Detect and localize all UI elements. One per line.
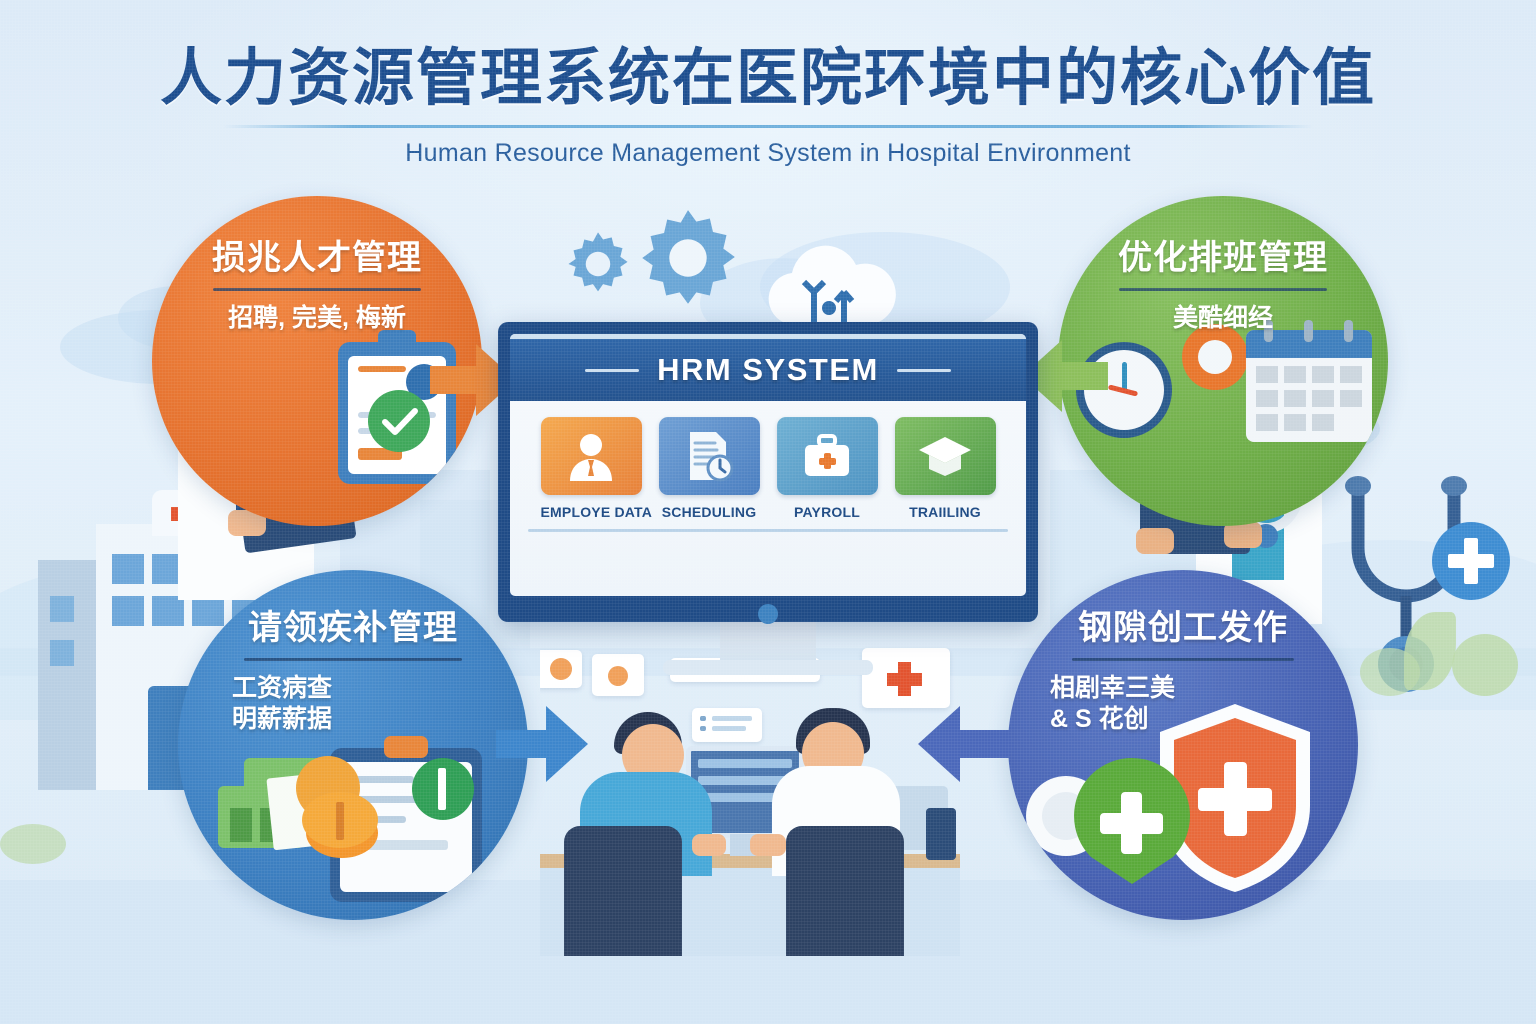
hrm-header-bar: HRM SYSTEM — [510, 334, 1026, 401]
monitor-power-dot — [758, 604, 778, 624]
tablet-device — [926, 808, 956, 860]
note-card — [592, 654, 644, 696]
page-title: 人力资源管理系统在医院环境中的核心价值 — [0, 46, 1536, 111]
page-title-block: 人力资源管理系统在医院环境中的核心价值 Human Resource Manag… — [0, 46, 1536, 168]
header-dash-left — [585, 369, 639, 372]
tile-employee-data[interactable]: EMPLOYE DATA — [541, 417, 642, 520]
arrow-bottom-right-to-center — [918, 706, 1010, 787]
tile-payroll-label: PAYROLL — [777, 504, 878, 520]
quadrant-bottom-left-subtitle: 工资病查 明薪薪据 — [178, 673, 528, 736]
monitor-neck — [720, 622, 816, 662]
quadrant-bottom-left[interactable]: 请领疾补管理 工资病查 明薪薪据 — [178, 570, 528, 920]
screen-divider — [528, 529, 1008, 532]
tile-training-label: TRAIILING — [895, 504, 996, 520]
wall-list-card — [692, 708, 762, 742]
title-divider — [223, 125, 1313, 128]
tile-training[interactable]: TRAIILING — [895, 417, 996, 520]
speech-bubble-card — [540, 650, 582, 688]
document-clock-icon — [659, 417, 760, 495]
quadrant-bottom-right-subtitle: 相剧幸三美 & S 花创 — [1008, 673, 1358, 736]
quadrant-bottom-left-heading: 请领疾补管理 — [178, 600, 528, 649]
infographic-canvas: 人力资源管理系统在医院环境中的核心价值 Human Resource Manag… — [0, 0, 1536, 1024]
module-tiles: EMPLOYE DATA SCHEDULING — [510, 401, 1026, 520]
page-subtitle: Human Resource Management System in Hosp… — [0, 139, 1536, 168]
quadrant-top-right-subtitle: 美酷细经 — [1058, 303, 1388, 334]
quadrant-top-left-subtitle: 招聘, 完美, 梅新 — [152, 303, 482, 334]
arrow-bottom-left-to-center — [496, 706, 588, 787]
quadrant-bottom-right[interactable]: 钢隙创工发作 相剧幸三美 & S 花创 — [1008, 570, 1358, 920]
tile-scheduling-label: SCHEDULING — [659, 504, 760, 520]
gear-large-icon — [636, 206, 740, 315]
header-dash-right — [897, 369, 951, 372]
graduation-cap-icon — [895, 417, 996, 495]
user-profile-icon — [541, 417, 642, 495]
monitor-bezel: HRM SYSTEM EMPLOYE DATA — [498, 322, 1038, 622]
hrm-system-monitor[interactable]: HRM SYSTEM EMPLOYE DATA — [498, 322, 1038, 622]
quadrant-bottom-right-heading: 钢隙创工发作 — [1008, 600, 1358, 649]
tile-payroll[interactable]: PAYROLL — [777, 417, 878, 520]
monitor-screen: HRM SYSTEM EMPLOYE DATA — [510, 334, 1026, 596]
medical-briefcase-icon — [777, 417, 878, 495]
gear-small-icon — [562, 228, 634, 305]
tile-employee-data-label: EMPLOYE DATA — [541, 504, 642, 520]
first-aid-kit-card — [862, 648, 950, 708]
quadrant-top-right-heading: 优化排班管理 — [1058, 230, 1388, 279]
monitor-base — [663, 660, 873, 675]
quadrant-top-left-heading: 损兆人才管理 — [152, 230, 482, 279]
office-scene — [540, 636, 960, 956]
tile-scheduling[interactable]: SCHEDULING — [659, 417, 760, 520]
hrm-system-title: HRM SYSTEM — [657, 352, 879, 388]
